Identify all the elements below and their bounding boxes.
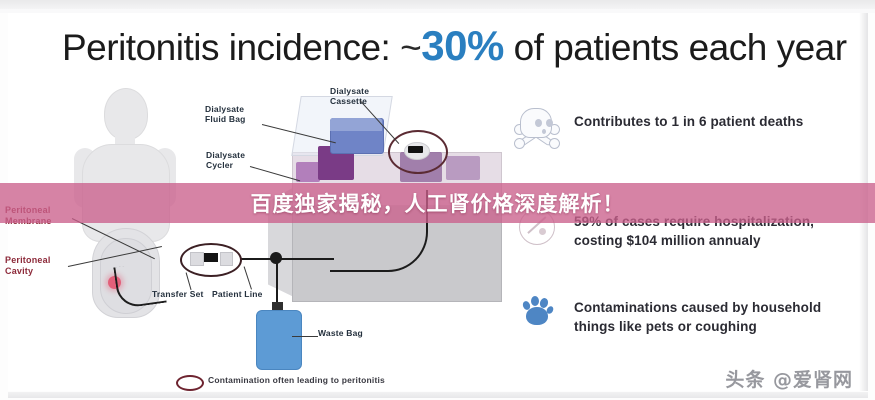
transfer-set-connector — [204, 253, 218, 262]
label-dialysate-cassette: Dialysate Cassette — [330, 86, 384, 106]
list-item: Contaminations caused by household thing… — [512, 290, 860, 338]
skull-shape — [520, 108, 552, 138]
fluid-bag-top-highlight — [330, 118, 382, 131]
paw-toe-2 — [531, 296, 539, 306]
promo-banner-text: 百度独家揭秘，人工肾价格深度解析！ — [251, 188, 625, 218]
fact-line-1: Contaminations caused by household — [574, 298, 821, 317]
diagram-caption: Contamination often leading to peritonit… — [208, 374, 385, 386]
watermark: 头条 @爱肾网 — [725, 365, 853, 392]
page-title: Peritonitis incidence: ~30% of patients … — [62, 22, 822, 70]
label-peritoneal-cavity: Peritoneal Cavity — [5, 255, 71, 277]
title-suffix: of patients each year — [504, 27, 847, 68]
label-dialysate-cycler: Dialysate Cycler — [206, 150, 254, 170]
circle-dot — [539, 228, 546, 235]
label-patient-line: Patient Line — [212, 289, 268, 299]
slide-screenshot: Peritonitis incidence: ~30% of patients … — [0, 0, 875, 400]
paw-print-icon — [512, 290, 560, 338]
title-tilde: ~ — [400, 27, 421, 68]
fact-line-1: Contributes to 1 in 6 patient deaths — [574, 112, 803, 131]
label-dialysate-fluid-bag: Dialysate Fluid Bag — [205, 104, 261, 124]
skull-nose — [542, 129, 546, 134]
fact-line-2: things like pets or coughing — [574, 317, 821, 336]
list-item: Contributes to 1 in 6 patient deaths — [512, 104, 860, 152]
fact-line-2: costing $104 million annualy — [574, 231, 814, 250]
waste-bag-shape — [256, 310, 302, 370]
skull-eye-right — [546, 119, 553, 127]
title-prefix: Peritonitis incidence: — [62, 27, 400, 68]
coil-connector-plug — [408, 146, 423, 153]
skull-eye-left — [535, 119, 542, 127]
cycler-display-right — [446, 156, 480, 180]
cassette-secondary — [296, 162, 320, 182]
fact-text-deaths: Contributes to 1 in 6 patient deaths — [574, 104, 803, 131]
transfer-set-clamp-right — [220, 252, 233, 266]
tube-junction-node — [270, 252, 282, 264]
transfer-set-clamp-left — [190, 252, 204, 266]
label-waste-bag: Waste Bag — [318, 328, 370, 338]
leader-line-waste-bag — [292, 336, 318, 337]
paw-pad — [526, 307, 548, 325]
bone-end-bl — [514, 138, 525, 149]
caption-oval-icon — [176, 375, 204, 391]
fact-text-contamination: Contaminations caused by household thing… — [574, 290, 821, 336]
slide-bottom-edge — [8, 392, 868, 398]
promo-banner: 百度独家揭秘，人工肾价格深度解析！ — [0, 183, 875, 223]
bone-end-br — [549, 138, 560, 149]
key-facts-list: Contributes to 1 in 6 patient deaths 59%… — [512, 104, 862, 384]
title-percent-value: 30% — [421, 22, 504, 69]
label-transfer-set: Transfer Set — [152, 289, 210, 299]
skull-crossbones-icon — [512, 104, 560, 152]
